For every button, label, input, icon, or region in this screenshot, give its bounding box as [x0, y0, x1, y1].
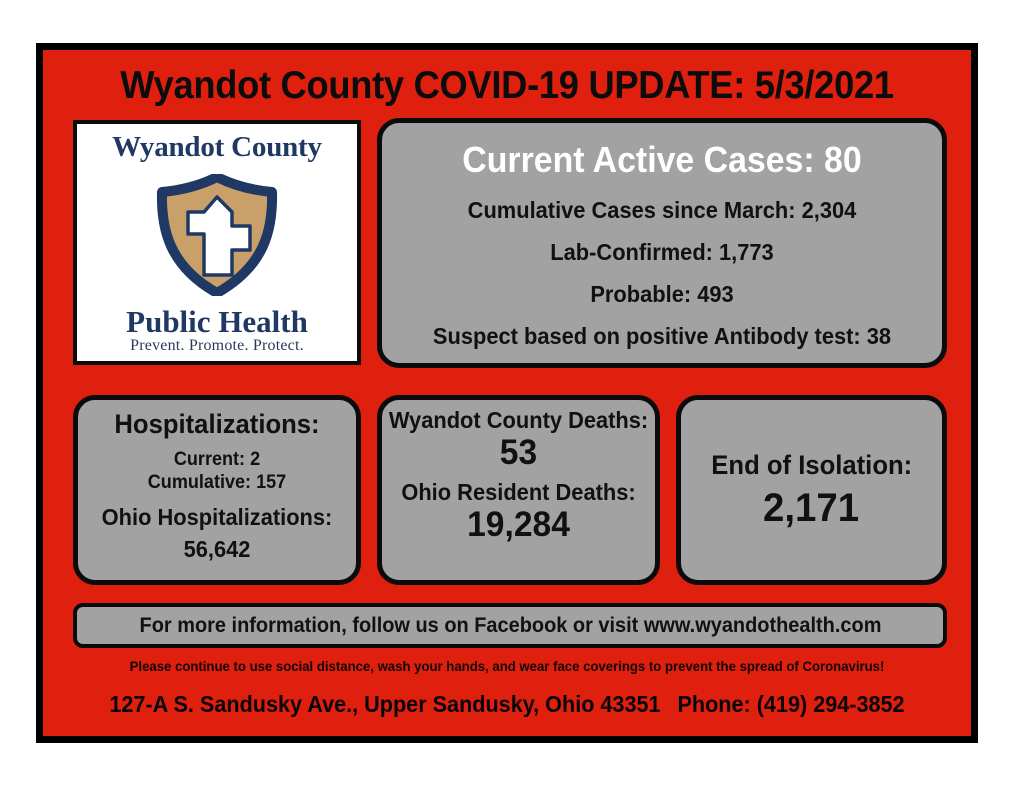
- logo-line-1: Wyandot County: [112, 133, 322, 162]
- lab-confirmed-line: Lab-Confirmed: 1,773: [406, 241, 919, 264]
- more-information-text: For more information, follow us on Faceb…: [139, 614, 881, 638]
- suspect-antibody-line: Suspect based on positive Antibody test:…: [406, 325, 919, 348]
- prevention-warning-text: Please continue to use social distance, …: [71, 658, 943, 674]
- hospitalizations-panel: Hospitalizations: Current: 2 Cumulative:…: [73, 395, 361, 585]
- probable-line: Probable: 493: [406, 283, 919, 306]
- address-phone-line: 127-A S. Sandusky Ave., Upper Sandusky, …: [71, 691, 943, 718]
- ohio-deaths-value: 19,284: [387, 507, 649, 544]
- active-cases-headline: Current Active Cases: 80: [408, 139, 916, 180]
- logo-tagline: Prevent. Promote. Protect.: [126, 338, 308, 354]
- hospitalizations-cumulative: Cumulative: 157: [85, 472, 349, 494]
- address-text: 127-A S. Sandusky Ave., Upper Sandusky, …: [109, 691, 600, 717]
- county-deaths-value: 53: [387, 435, 649, 472]
- more-information-bar: For more information, follow us on Faceb…: [73, 603, 947, 648]
- end-of-isolation-heading: End of Isolation:: [711, 451, 912, 479]
- hospitalizations-current: Current: 2: [85, 449, 349, 471]
- ohio-hospitalizations-heading: Ohio Hospitalizations:: [85, 505, 349, 529]
- active-cases-panel: Current Active Cases: 80 Cumulative Case…: [377, 118, 947, 368]
- cumulative-cases-line: Cumulative Cases since March: 2,304: [406, 199, 919, 222]
- county-deaths-heading: Wyandot County Deaths:: [389, 408, 648, 432]
- page-title: Wyandot County COVID-19 UPDATE: 5/3/2021: [75, 64, 938, 108]
- logo-line-2: Public Health: [126, 306, 308, 337]
- address-zip: 43351: [600, 691, 660, 717]
- hospitalizations-heading: Hospitalizations:: [85, 410, 349, 438]
- phone-text: Phone: (419) 294-3852: [677, 691, 904, 717]
- logo-wordmark-bottom: Public Health Prevent. Promote. Protect.: [126, 306, 308, 354]
- end-of-isolation-panel: End of Isolation: 2,171: [676, 395, 947, 585]
- deaths-panel: Wyandot County Deaths: 53 Ohio Resident …: [377, 395, 660, 585]
- end-of-isolation-value: 2,171: [763, 487, 859, 529]
- infographic-page: Wyandot County COVID-19 UPDATE: 5/3/2021…: [0, 0, 1024, 791]
- shield-cross-icon: [155, 174, 279, 296]
- ohio-hospitalizations-value: 56,642: [85, 537, 349, 561]
- red-card: Wyandot County COVID-19 UPDATE: 5/3/2021…: [36, 43, 978, 743]
- agency-logo-box: Wyandot County Public Health Prevent. Pr…: [73, 120, 361, 365]
- ohio-deaths-heading: Ohio Resident Deaths:: [389, 480, 648, 504]
